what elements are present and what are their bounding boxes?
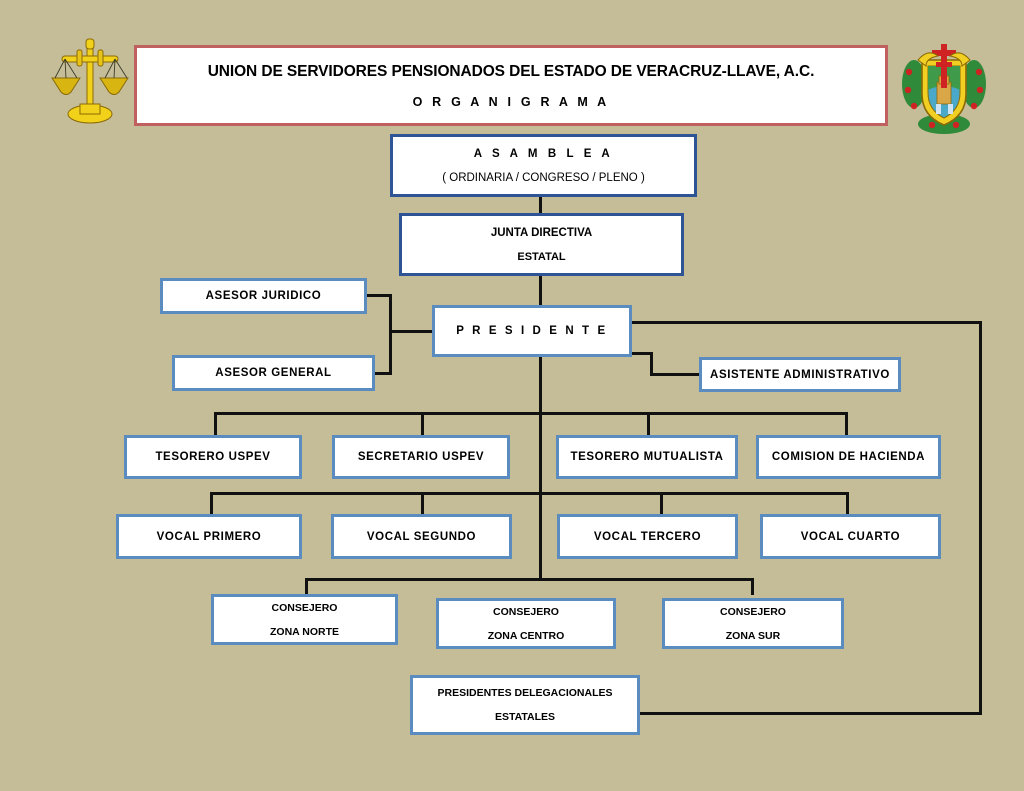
node-presidentes-delegacionales-line1: PRESIDENTES DELEGACIONALES: [437, 687, 612, 699]
node-asamblea-line1: A S A M B L E A: [474, 148, 614, 160]
node-consejero-zona-sur[interactable]: CONSEJERO ZONA SUR: [662, 598, 844, 649]
connector-row2-drop-4: [846, 492, 849, 514]
node-vocal-segundo[interactable]: VOCAL SEGUNDO: [331, 514, 512, 559]
veracruz-coat-of-arms-icon: [896, 32, 992, 136]
node-comision-hacienda[interactable]: COMISION DE HACIENDA: [756, 435, 941, 479]
connector-row3-bus: [305, 578, 751, 581]
page-title: UNION DE SERVIDORES PENSIONADOS DEL ESTA…: [208, 63, 815, 81]
node-presidentes-delegacionales-line2: ESTATALES: [495, 711, 555, 723]
page-subtitle: O R G A N I G R A M A: [413, 95, 610, 109]
node-consejero-zona-norte[interactable]: CONSEJERO ZONA NORTE: [211, 594, 398, 645]
node-asesor-general[interactable]: ASESOR GENERAL: [172, 355, 375, 391]
connector-row2-drop-3: [660, 492, 663, 514]
connector-row1-drop-1: [214, 412, 217, 435]
scales-of-justice-icon: [46, 34, 134, 134]
node-asistente-label: ASISTENTE ADMINISTRATIVO: [710, 369, 890, 381]
node-asamblea-line2: ( ORDINARIA / CONGRESO / PLENO ): [442, 172, 645, 184]
node-consejero-zona-centro[interactable]: CONSEJERO ZONA CENTRO: [436, 598, 616, 649]
node-tesorero-uspev[interactable]: TESORERO USPEV: [124, 435, 302, 479]
node-vocal-primero[interactable]: VOCAL PRIMERO: [116, 514, 302, 559]
node-vocal-tercero-label: VOCAL TERCERO: [594, 531, 701, 543]
node-vocal-primero-label: VOCAL PRIMERO: [157, 531, 262, 543]
node-presidente-label: P R E S I D E N T E: [456, 325, 607, 337]
node-vocal-segundo-label: VOCAL SEGUNDO: [367, 531, 476, 543]
node-consejero-centro-line2: ZONA CENTRO: [488, 630, 565, 642]
node-asesor-general-label: ASESOR GENERAL: [215, 367, 331, 379]
node-presidente[interactable]: P R E S I D E N T E: [432, 305, 632, 357]
node-secretario-uspev-label: SECRETARIO USPEV: [358, 451, 484, 463]
connector-row2-drop-2: [421, 492, 424, 514]
organigrama-canvas: UNION DE SERVIDORES PENSIONADOS DEL ESTA…: [0, 0, 1024, 791]
node-tesorero-uspev-label: TESORERO USPEV: [155, 451, 270, 463]
node-consejero-norte-line1: CONSEJERO: [272, 602, 338, 614]
connector-presidente-right-h: [631, 321, 982, 324]
title-banner: UNION DE SERVIDORES PENSIONADOS DEL ESTA…: [134, 45, 888, 126]
connector-asesor-to-presidente: [389, 330, 433, 333]
node-consejero-sur-line1: CONSEJERO: [720, 606, 786, 618]
node-consejero-centro-line1: CONSEJERO: [493, 606, 559, 618]
connector-presidente-asistente-h2: [650, 373, 700, 376]
connector-row1-drop-2: [421, 412, 424, 435]
node-asamblea[interactable]: A S A M B L E A ( ORDINARIA / CONGRESO /…: [390, 134, 697, 197]
connector-right-vertical: [979, 321, 982, 715]
connector-row3-drop-1: [305, 578, 308, 595]
connector-delegacionales-h: [638, 712, 982, 715]
node-asistente-administrativo[interactable]: ASISTENTE ADMINISTRATIVO: [699, 357, 901, 392]
connector-row3-drop-2: [751, 578, 754, 595]
node-secretario-uspev[interactable]: SECRETARIO USPEV: [332, 435, 510, 479]
connector-row1-bus: [214, 412, 847, 415]
connector-row2-bus: [210, 492, 848, 495]
connector-asesor-bracket: [389, 294, 392, 375]
connector-row2-drop-1: [210, 492, 213, 514]
node-junta-line2: ESTATAL: [517, 251, 565, 263]
node-junta-directiva[interactable]: JUNTA DIRECTIVA ESTATAL: [399, 213, 684, 276]
node-comision-hacienda-label: COMISION DE HACIENDA: [772, 451, 925, 463]
connector-row1-drop-3: [647, 412, 650, 435]
node-presidentes-delegacionales[interactable]: PRESIDENTES DELEGACIONALES ESTATALES: [410, 675, 640, 735]
node-tesorero-mutualista[interactable]: TESORERO MUTUALISTA: [556, 435, 738, 479]
connector-row1-drop-4: [845, 412, 848, 435]
node-consejero-norte-line2: ZONA NORTE: [270, 626, 339, 638]
connector-main-spine: [539, 357, 542, 581]
node-vocal-tercero[interactable]: VOCAL TERCERO: [557, 514, 738, 559]
node-asesor-juridico[interactable]: ASESOR JURIDICO: [160, 278, 367, 314]
node-tesorero-mutualista-label: TESORERO MUTUALISTA: [570, 451, 723, 463]
node-vocal-cuarto-label: VOCAL CUARTO: [801, 531, 900, 543]
node-consejero-sur-line2: ZONA SUR: [726, 630, 780, 642]
node-junta-line1: JUNTA DIRECTIVA: [491, 227, 592, 239]
connector-junta-presidente: [539, 276, 542, 306]
node-asesor-juridico-label: ASESOR JURIDICO: [206, 290, 322, 302]
node-vocal-cuarto[interactable]: VOCAL CUARTO: [760, 514, 941, 559]
